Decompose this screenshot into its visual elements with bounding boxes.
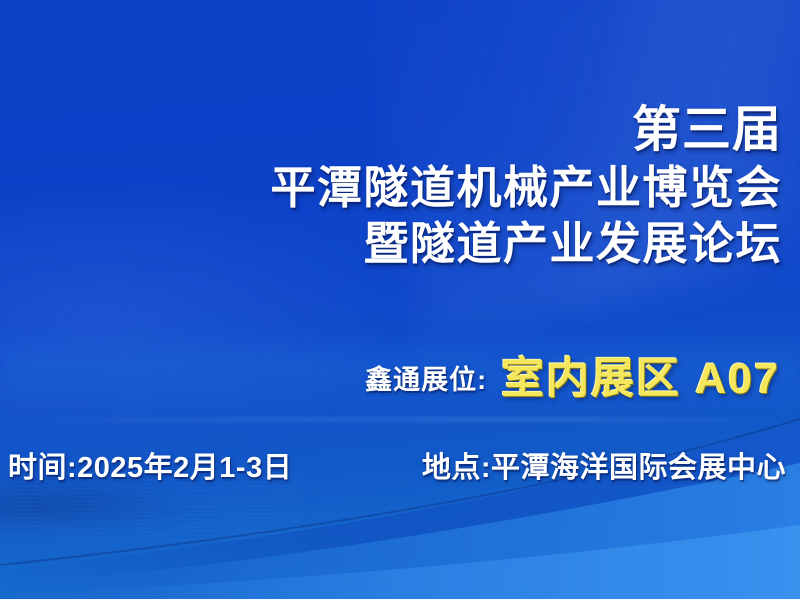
title-line-forum: 暨隧道产业发展论坛 (270, 221, 782, 266)
exhibition-poster: 第三届 平潭隧道机械产业博览会 暨隧道产业发展论坛 鑫通展位: 室内展区 A07… (0, 0, 800, 599)
event-meta-row: 时间:2025年2月1-3日 地点:平潭海洋国际会展中心 (8, 444, 786, 486)
event-title-block: 第三届 平潭隧道机械产业博览会 暨隧道产业发展论坛 (270, 106, 782, 266)
booth-label: 鑫通展位: (365, 358, 487, 397)
booth-number: 室内展区 A07 (501, 344, 780, 406)
title-line-edition: 第三届 (270, 106, 782, 155)
event-date: 时间:2025年2月1-3日 (8, 444, 292, 486)
poster-content: 第三届 平潭隧道机械产业博览会 暨隧道产业发展论坛 鑫通展位: 室内展区 A07… (0, 0, 800, 599)
event-venue: 地点:平潭海洋国际会展中心 (422, 444, 786, 486)
booth-info-row: 鑫通展位: 室内展区 A07 (365, 344, 780, 406)
title-line-main: 平潭隧道机械产业博览会 (270, 165, 782, 210)
